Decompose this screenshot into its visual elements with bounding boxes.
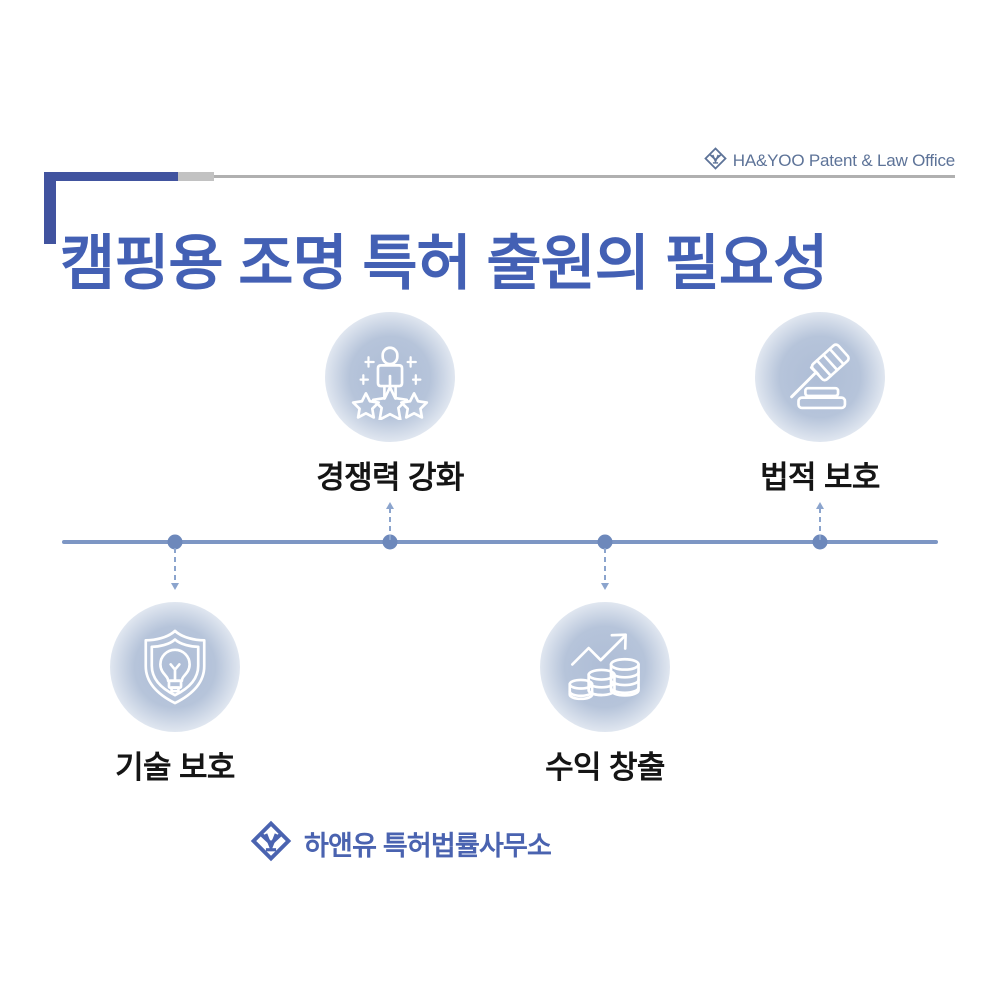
brand-lockup: HA&YOO Patent & Law Office xyxy=(704,147,955,175)
footer-office-name: 하앤유 특허법률사무소 xyxy=(304,824,551,863)
gavel-icon xyxy=(777,334,863,420)
page-title: 캠핑용 조명 특허 출원의 필요성 xyxy=(60,230,960,297)
connector-legal-protection xyxy=(819,508,821,542)
connector-revenue-generation xyxy=(604,548,606,584)
icon-badge-tech-protection xyxy=(110,602,240,732)
hayoo-diamond-logo-icon xyxy=(704,147,727,175)
node-label-legal-protection: 법적 보호 xyxy=(712,452,928,497)
coins-growth-arrow-icon xyxy=(562,624,648,710)
brand-row: HA&YOO Patent & Law Office xyxy=(0,147,1000,173)
corner-bracket-accent xyxy=(44,172,56,244)
node-label-competitiveness: 경쟁력 강화 xyxy=(282,452,498,497)
node-label-tech-protection: 기술 보호 xyxy=(67,742,283,787)
divider-segment-blue xyxy=(48,172,178,181)
arrowhead-down-icon xyxy=(171,583,179,590)
footer-lockup: 하앤유 특허법률사무소 xyxy=(250,820,551,867)
timeline-axis xyxy=(62,540,938,544)
node-legal-protection[interactable]: 법적 보호 xyxy=(712,312,928,497)
connector-tech-protection xyxy=(174,548,176,584)
hayoo-diamond-logo-icon xyxy=(250,820,292,867)
divider-rule xyxy=(214,175,955,178)
arrowhead-up-icon xyxy=(816,502,824,509)
connector-competitiveness xyxy=(389,508,391,542)
node-revenue-generation[interactable]: 수익 창출 xyxy=(497,602,713,787)
divider-segment-gray xyxy=(178,172,214,181)
arrowhead-down-icon xyxy=(601,583,609,590)
shield-lightbulb-icon xyxy=(132,624,218,710)
node-tech-protection[interactable]: 기술 보호 xyxy=(67,602,283,787)
node-label-revenue-generation: 수익 창출 xyxy=(497,742,713,787)
slide-canvas: HA&YOO Patent & Law Office 캠핑용 조명 특허 출원의… xyxy=(0,0,1000,1000)
icon-badge-competitiveness xyxy=(325,312,455,442)
icon-badge-revenue-generation xyxy=(540,602,670,732)
brand-name: HA&YOO Patent & Law Office xyxy=(733,151,955,171)
node-competitiveness[interactable]: 경쟁력 강화 xyxy=(282,312,498,497)
person-stars-icon xyxy=(347,334,433,420)
arrowhead-up-icon xyxy=(386,502,394,509)
icon-badge-legal-protection xyxy=(755,312,885,442)
